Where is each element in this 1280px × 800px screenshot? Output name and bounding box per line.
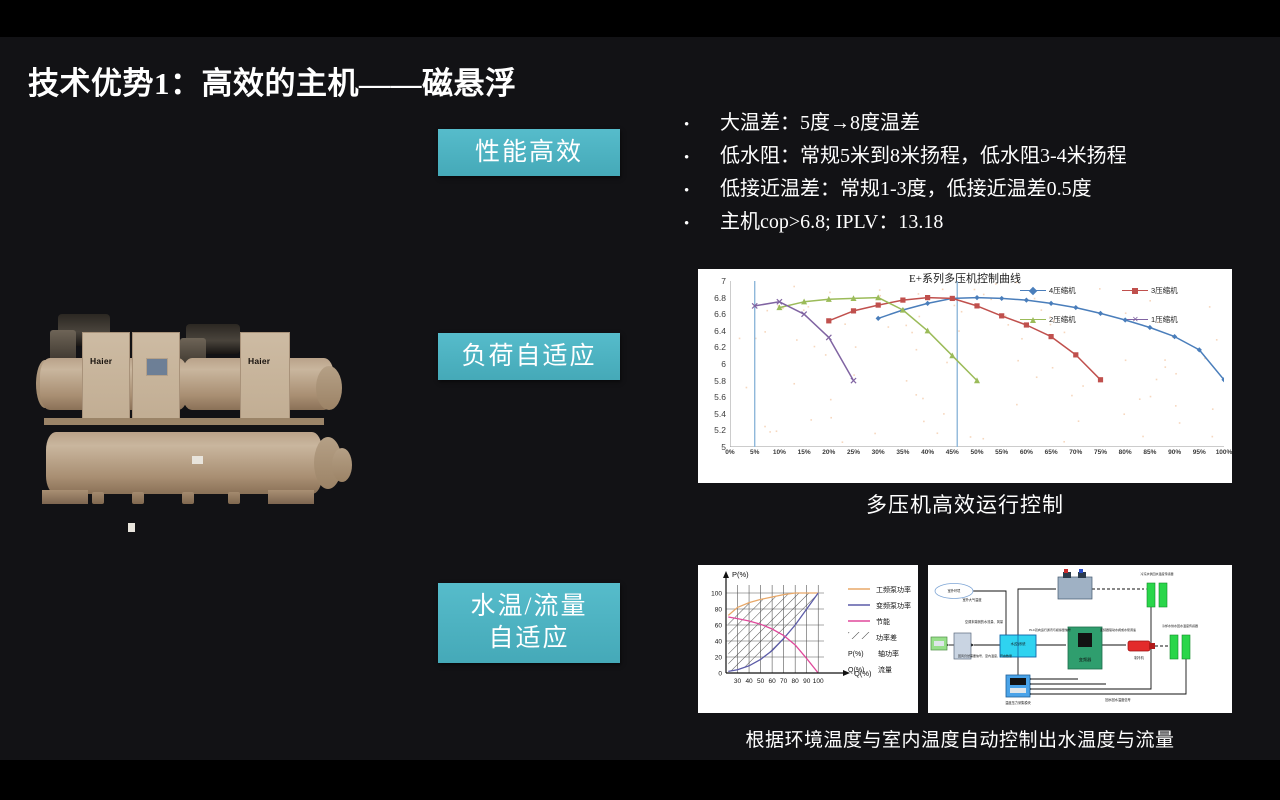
pump-x-tick: 30	[734, 678, 742, 685]
chiller-icon	[1058, 577, 1092, 599]
pipe-nozzle	[92, 492, 104, 504]
acquisition-keys	[1010, 688, 1026, 693]
x-tick-label: 80%	[1119, 449, 1132, 456]
bullet-list: • 大温差：5度→8度温差 • 低水阻：常规5米到8米扬程，低水阻3-4米扬程 …	[672, 108, 1272, 240]
x-tick-label: 5%	[750, 449, 759, 456]
bullet-marker-icon: •	[672, 143, 720, 174]
control-panel-1	[82, 332, 130, 422]
pump-legend-label: 变频泵功率	[876, 601, 911, 610]
pipe-nozzle	[182, 492, 194, 504]
x-tick-label: 85%	[1143, 449, 1156, 456]
data-point	[1049, 334, 1054, 339]
chart-x-axis: 0%5%10%15%20%25%30%35%40%45%50%55%60%65%…	[730, 449, 1224, 463]
acquisition-display	[1010, 678, 1026, 685]
support-rail	[44, 418, 324, 425]
pump-x-tick: 50	[757, 678, 765, 685]
callout-water-line-2: 自适应	[488, 625, 569, 652]
data-point	[876, 302, 881, 307]
data-point	[851, 308, 856, 313]
inverter-display	[1078, 633, 1092, 647]
chart-svg	[730, 281, 1224, 447]
data-point	[1024, 297, 1029, 302]
power-difference-region	[728, 593, 818, 671]
bullet-marker-icon: •	[672, 110, 720, 141]
pump-x-tick: 60	[769, 678, 777, 685]
callout-water-line-1: 水温/流量	[471, 593, 588, 620]
data-point	[826, 318, 831, 323]
pipe-nozzle	[132, 492, 144, 504]
pump-legend-symbol: Q(%)	[848, 667, 864, 674]
data-point	[950, 296, 955, 301]
x-tick-label: 100%	[1216, 449, 1233, 456]
base-foot-left	[42, 490, 88, 504]
room-sensor-display	[934, 641, 944, 646]
callout-water-flow-adaptive-label: 水温/流量 自适应	[471, 591, 588, 655]
y-tick-label: 5.2	[714, 425, 726, 435]
data-point	[974, 295, 979, 300]
pump-legend-hatch-swatch	[848, 632, 870, 639]
chiller-indicator-1	[1064, 569, 1068, 573]
nameplate-tag	[192, 456, 203, 464]
pump-legend-symbol: P(%)	[848, 651, 864, 658]
y-tick-label: 7	[721, 276, 726, 286]
hmi-touchscreen	[146, 358, 168, 376]
chart-pump-power-curve: 02040608010030405060708090100P(%)Q(%) 工频…	[698, 565, 918, 713]
pump-legend-note: 轴功率	[878, 649, 899, 658]
x-tick-label: 90%	[1168, 449, 1181, 456]
diagram-label: 制冷机	[1134, 655, 1144, 660]
y-tick-label: 5.4	[714, 409, 726, 419]
control-panel-3	[240, 332, 290, 422]
data-point	[999, 313, 1004, 318]
chiller-indicator-2	[1079, 569, 1083, 573]
bullet-marker-icon: •	[672, 209, 720, 240]
y-tick-label: 6	[721, 359, 726, 369]
pump-x-tick: 90	[803, 678, 811, 685]
sensor-bar-top-2	[1159, 583, 1167, 607]
diagram-label: 变频器驱动水阀或水泵调速	[1100, 627, 1136, 632]
bullet-text: 低接近温差：常规1-3度，低接近温差0.5度	[720, 174, 1272, 205]
y-tick-label: 6.8	[714, 293, 726, 303]
y-tick-label: 6.4	[714, 326, 726, 336]
bullet-text: 大温差：5度→8度温差	[720, 108, 1272, 139]
data-point	[1098, 377, 1103, 382]
vessel-nozzle-cap	[332, 448, 352, 482]
x-tick-label: 35%	[896, 449, 909, 456]
bullet-marker-icon: •	[672, 176, 720, 207]
y-tick-label: 6.6	[714, 309, 726, 319]
pump-y-tick: 80	[715, 607, 723, 614]
pump-chart-svg: 02040608010030405060708090100P(%)Q(%) 工频…	[698, 565, 918, 713]
floor-marker	[128, 523, 135, 532]
pump-hatch-region	[728, 593, 818, 671]
chart-plot-area	[730, 281, 1224, 447]
diagram-label: PLC双向运行通讯与模拟量信号	[1029, 627, 1071, 632]
chart-series-group	[752, 294, 1224, 383]
pump-legend-label: 工频泵功率	[876, 585, 911, 594]
data-point	[900, 297, 905, 302]
bullet-text: 低水阻：常规5米到8米扬程，低水阻3-4米扬程	[720, 141, 1272, 172]
diagram-svg: 室外环境室外大气温度空调末端侧的水流量、风量回风仍然需要信号、室内温度、开启数量…	[928, 565, 1232, 713]
bottom-caption: 根据环境温度与室内温度自动控制出水温度与流量	[660, 725, 1260, 752]
brand-logo-left: Haier	[90, 356, 112, 366]
callout-load-adaptive-label: 负荷自适应	[461, 341, 596, 373]
pump-y-tick: 0	[718, 671, 722, 678]
data-point	[1073, 305, 1078, 310]
diagram-label: 空调末端侧的水流量、风量	[965, 619, 1004, 624]
sensor-bar-right-1	[1170, 635, 1178, 659]
x-tick-label: 25%	[847, 449, 860, 456]
bullet-text: 主机cop>6.8; IPLV：13.18	[720, 207, 1272, 238]
pump-legend-note: 流量	[878, 665, 892, 674]
chart-caption: 多压机高效运行控制	[698, 489, 1232, 519]
data-point	[1123, 317, 1128, 322]
data-point	[802, 312, 807, 317]
pump-legend: 工频泵功率变频泵功率节能功率差P(%)轴功率Q(%)流量	[848, 585, 911, 674]
x-tick-label: 45%	[946, 449, 959, 456]
diagram-label: 水(空)系统	[1011, 641, 1027, 646]
diagram-water-control-system: 室外环境室外大气温度空调末端侧的水流量、风量回风仍然需要信号、室内温度、开启数量…	[928, 565, 1232, 713]
data-point	[999, 296, 1004, 301]
diagram-label: 室外大气温度	[962, 597, 982, 602]
series-line-2压缩机	[779, 298, 977, 381]
data-point	[974, 303, 979, 308]
pump-y-tick: 20	[715, 655, 723, 662]
y-tick-label: 5.6	[714, 392, 726, 402]
data-point	[1073, 352, 1078, 357]
pump-y-tick: 100	[711, 591, 722, 598]
data-point	[925, 301, 930, 306]
pump-outlet	[1149, 643, 1155, 649]
callout-performance[interactable]: 性能高效	[438, 129, 620, 176]
page-title: 技术优势1：高效的主机——磁悬浮	[28, 58, 517, 103]
x-tick-label: 55%	[995, 449, 1008, 456]
list-item: • 低接近温差：常规1-3度，低接近温差0.5度	[672, 174, 1272, 207]
diagram-label: 温度压力采集模块	[1005, 700, 1031, 705]
brand-logo-right: Haier	[248, 356, 270, 366]
vessel-end-cap-upper-right	[316, 366, 342, 410]
list-item: • 主机cop>6.8; IPLV：13.18	[672, 207, 1272, 240]
x-tick-label: 60%	[1020, 449, 1033, 456]
control-panel-2	[132, 332, 180, 422]
pump-x-tick: 100	[813, 678, 824, 685]
data-point	[925, 295, 930, 300]
diagram-label: 变频器	[1079, 656, 1092, 663]
callout-performance-label: 性能高效	[475, 137, 583, 169]
slide-root: 技术优势1：高效的主机——磁悬浮 性能高效 负荷自适应 水温/流量 自适应 • …	[0, 0, 1280, 800]
y-tick-label: 6.2	[714, 342, 726, 352]
x-tick-label: 15%	[798, 449, 811, 456]
callout-load-adaptive[interactable]: 负荷自适应	[438, 333, 620, 380]
x-tick-label: 30%	[872, 449, 885, 456]
list-item: • 低水阻：常规5米到8米扬程，低水阻3-4米扬程	[672, 141, 1272, 174]
list-item: • 大温差：5度→8度温差	[672, 108, 1272, 141]
data-point	[1024, 322, 1029, 327]
x-tick-label: 95%	[1193, 449, 1206, 456]
pump-y-tick: 60	[715, 623, 723, 630]
x-tick-label: 10%	[773, 449, 786, 456]
x-tick-label: 40%	[921, 449, 934, 456]
product-photo-chiller: Haier Haier	[32, 304, 362, 532]
pump-x-tick: 40	[745, 678, 753, 685]
data-point	[1147, 325, 1152, 330]
callout-water-flow-adaptive[interactable]: 水温/流量 自适应	[438, 583, 620, 663]
data-point	[851, 378, 856, 383]
diagram-label: 回风仍然需要信号、室内温度、开启数量	[958, 653, 1012, 658]
pipe-nozzle	[228, 492, 240, 504]
chart-y-axis: 55.25.45.65.866.26.46.66.87	[698, 281, 726, 447]
pump-legend-label: 节能	[876, 617, 890, 626]
x-tick-label: 0%	[725, 449, 734, 456]
diagram-label: 冷却水供水回水温度传感器	[1162, 623, 1198, 628]
x-tick-label: 65%	[1045, 449, 1058, 456]
pump-node	[1128, 641, 1150, 651]
diagram-label: 回水回水温度信号	[1105, 697, 1131, 702]
data-point	[1049, 301, 1054, 306]
condenser-shell	[46, 432, 322, 494]
pump-x-tick: 80	[792, 678, 800, 685]
pump-x-tick: 70	[780, 678, 788, 685]
pump-y-tick: 40	[715, 639, 723, 646]
pump-legend-label: 功率差	[876, 633, 897, 642]
base-foot-right	[268, 490, 314, 504]
x-tick-label: 20%	[822, 449, 835, 456]
sensor-bar-top-1	[1147, 583, 1155, 607]
data-point	[826, 335, 831, 340]
diagram-label: 室外环境	[948, 588, 962, 593]
data-point	[876, 316, 881, 321]
slide-body: 技术优势1：高效的主机——磁悬浮 性能高效 负荷自适应 水温/流量 自适应 • …	[0, 37, 1280, 760]
x-tick-label: 50%	[970, 449, 983, 456]
x-tick-label: 75%	[1094, 449, 1107, 456]
x-tick-label: 70%	[1069, 449, 1082, 456]
chart-multi-compressor-curve: E+系列多压机控制曲线 4压缩机 3压缩机 2压缩机 ✕ 1压缩机	[698, 269, 1232, 483]
pump-ylabel: P(%)	[732, 570, 749, 579]
data-point	[1098, 311, 1103, 316]
sensor-bar-right-2	[1182, 635, 1190, 659]
y-tick-label: 5.8	[714, 376, 726, 386]
diagram-label: 冷冻水供回水温度传感器	[1140, 571, 1173, 576]
